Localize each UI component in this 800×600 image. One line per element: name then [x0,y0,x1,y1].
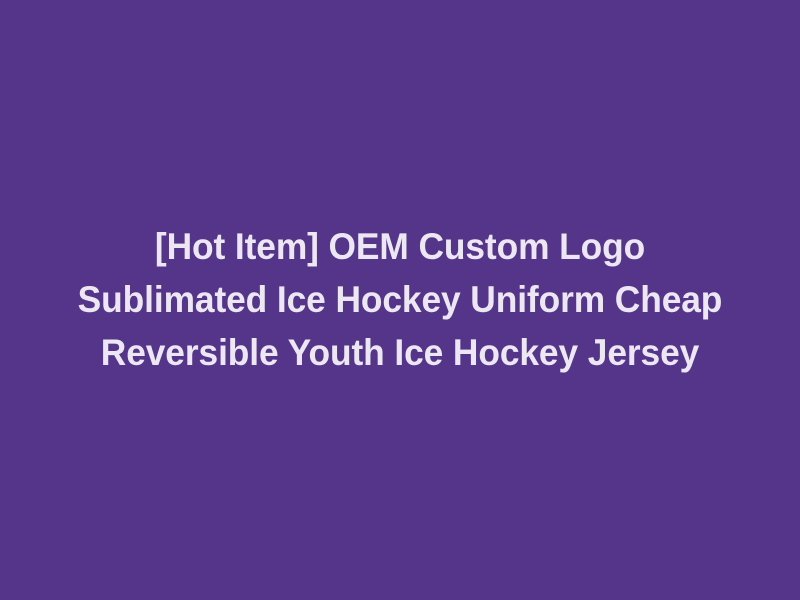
product-title-card: [Hot Item] OEM Custom Logo Sublimated Ic… [0,0,800,600]
page-title: [Hot Item] OEM Custom Logo Sublimated Ic… [30,220,770,379]
title-line-3: Reversible Youth Ice Hockey Jersey [54,326,745,379]
title-line-2: Sublimated Ice Hockey Uniform Cheap [54,273,745,326]
title-line-1: [Hot Item] OEM Custom Logo [54,220,745,273]
